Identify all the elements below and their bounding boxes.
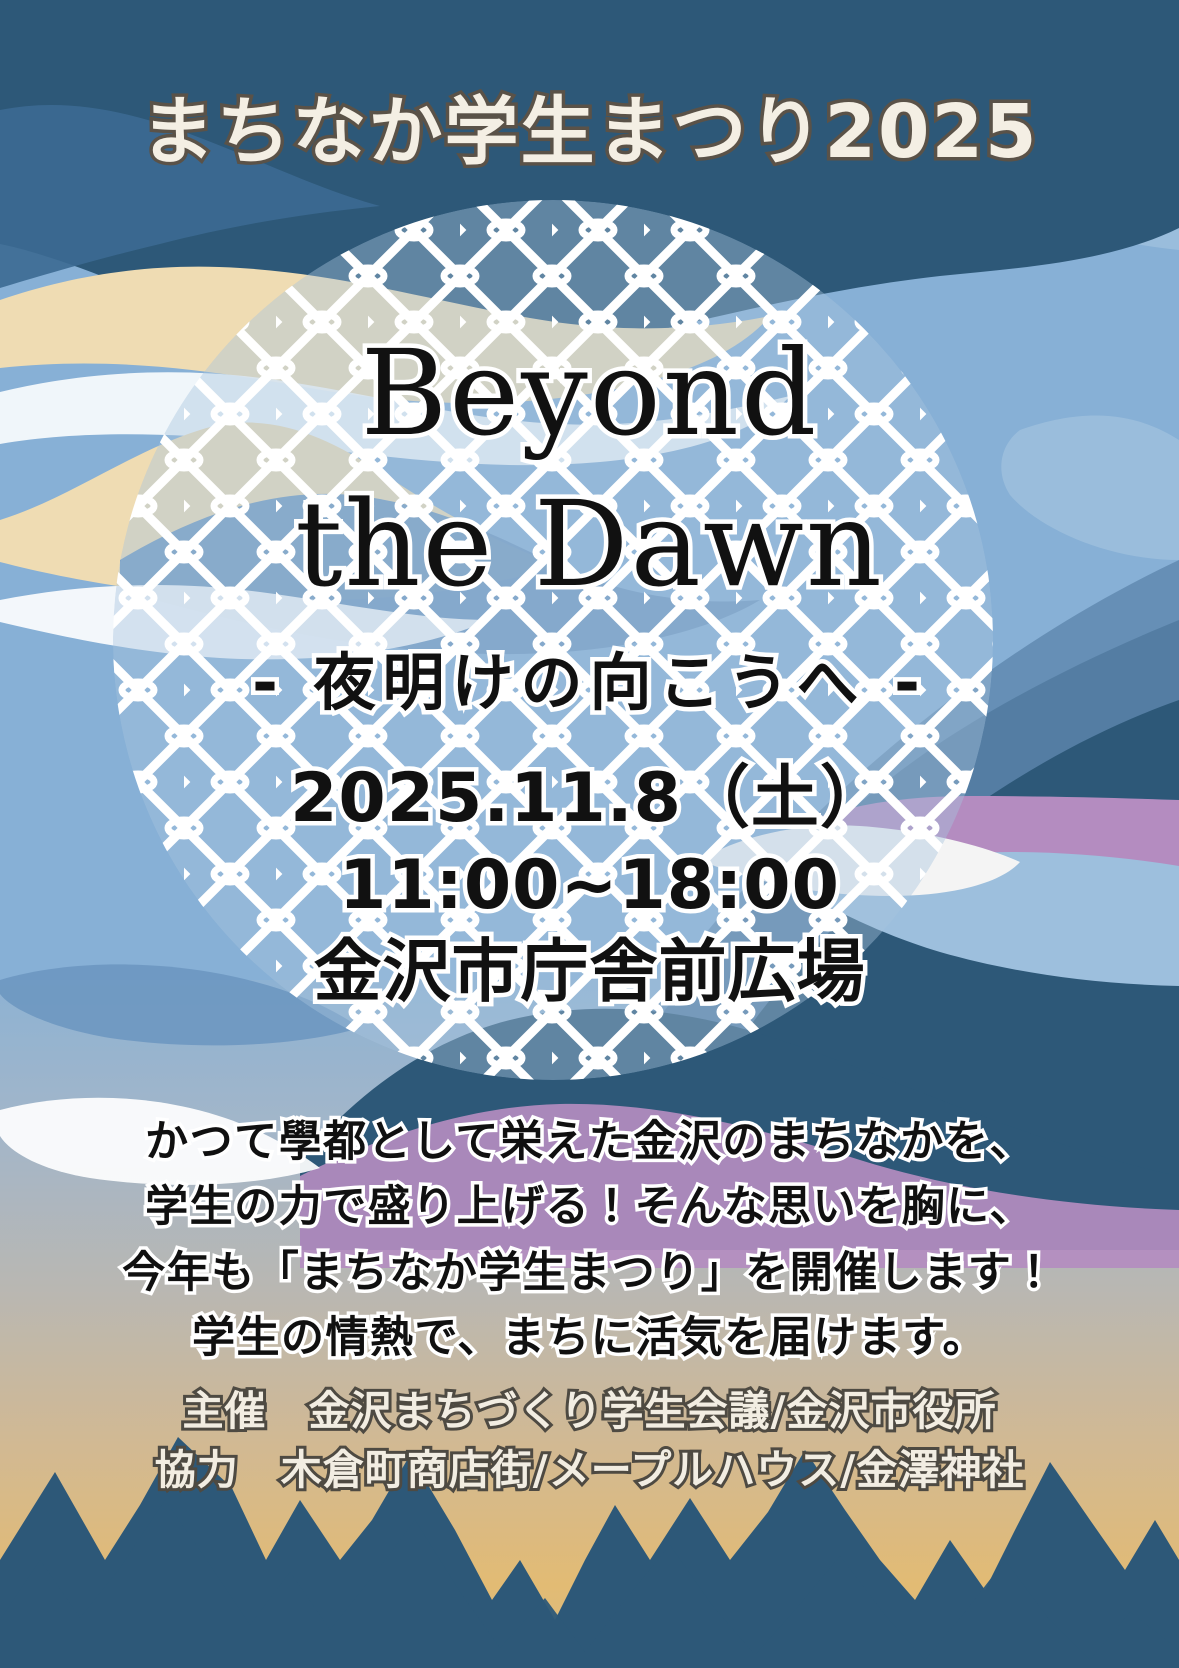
description-line-2: 学生の力で盛り上げる！そんな思いを胸に、 xyxy=(0,1175,1179,1240)
credits-cooperation: 協力 木倉町商店街/メープルハウス/金澤神社 xyxy=(0,1441,1179,1500)
main-title-line-1: Beyond xyxy=(0,318,1179,469)
description-line-1: かつて學都として栄えた金沢のまちなかを、 xyxy=(0,1110,1179,1175)
main-subtitle: - 夜明けの向こうへ - xyxy=(0,632,1179,722)
event-time: 11:00~18:00 xyxy=(0,842,1179,929)
credits-organizer: 主催 金沢まちづくり学生会議/金沢市役所 xyxy=(0,1382,1179,1441)
description-block: かつて學都として栄えた金沢のまちなかを、 学生の力で盛り上げる！そんな思いを胸に… xyxy=(0,1110,1179,1371)
event-poster: まちなか学生まつり2025 Beyond the Dawn - 夜明けの向こうへ… xyxy=(0,0,1179,1668)
credits-block: 主催 金沢まちづくり学生会議/金沢市役所 協力 木倉町商店街/メープルハウス/金… xyxy=(0,1382,1179,1501)
poster-text-layer: まちなか学生まつり2025 Beyond the Dawn - 夜明けの向こうへ… xyxy=(0,0,1179,1668)
festival-banner-title: まちなか学生まつり2025 xyxy=(0,72,1179,179)
main-title-block: Beyond the Dawn - 夜明けの向こうへ - xyxy=(0,318,1179,722)
description-line-4: 学生の情熱で、まちに活気を届けます。 xyxy=(0,1306,1179,1371)
event-venue: 金沢市庁舎前広場 xyxy=(0,929,1179,1016)
main-title-line-2: the Dawn xyxy=(0,469,1179,620)
description-line-3: 今年も「まちなか学生まつり」を開催します！ xyxy=(0,1241,1179,1306)
event-info-block: 2025.11.8（土） 11:00~18:00 金沢市庁舎前広場 xyxy=(0,755,1179,1016)
event-date: 2025.11.8（土） xyxy=(0,755,1179,842)
